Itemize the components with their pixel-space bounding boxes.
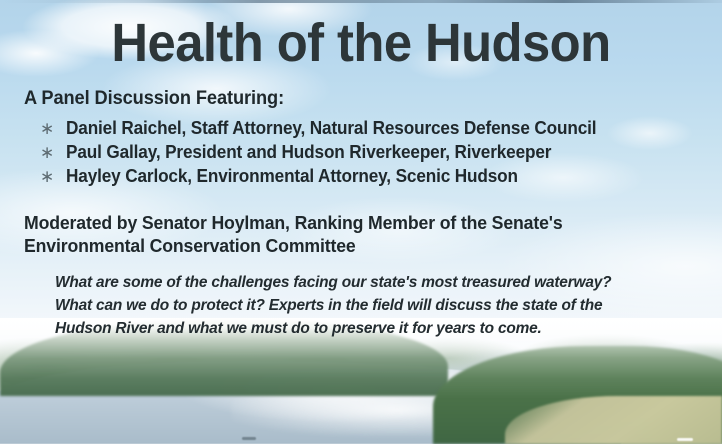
poster: Health of the Hudson A Panel Discussion … bbox=[0, 0, 722, 444]
panelist-list: ∗ Daniel Raichel, Staff Attorney, Natura… bbox=[40, 118, 712, 190]
moderator-line: Moderated by Senator Hoylman, Ranking Me… bbox=[24, 211, 675, 234]
blurb-line: What are some of the challenges facing o… bbox=[55, 271, 685, 294]
blurb-line: Hudson River and what we must do to pres… bbox=[55, 317, 685, 340]
list-item: ∗ Paul Gallay, President and Hudson Rive… bbox=[40, 142, 712, 166]
subtitle: A Panel Discussion Featuring: bbox=[24, 88, 284, 110]
description-blurb: What are some of the challenges facing o… bbox=[55, 271, 708, 340]
moderator-block: Moderated by Senator Hoylman, Ranking Me… bbox=[24, 211, 706, 257]
asterisk-bullet-icon: ∗ bbox=[40, 167, 66, 187]
moderator-line: Environmental Conservation Committee bbox=[24, 234, 675, 257]
poster-content: Health of the Hudson A Panel Discussion … bbox=[0, 0, 722, 444]
blurb-line: What can we do to protect it? Experts in… bbox=[55, 294, 685, 317]
asterisk-bullet-icon: ∗ bbox=[40, 143, 66, 163]
page-title: Health of the Hudson bbox=[22, 13, 701, 73]
list-item: ∗ Hayley Carlock, Environmental Attorney… bbox=[40, 166, 712, 190]
panelist-label: Hayley Carlock, Environmental Attorney, … bbox=[66, 166, 518, 187]
panelist-label: Daniel Raichel, Staff Attorney, Natural … bbox=[66, 118, 596, 139]
asterisk-bullet-icon: ∗ bbox=[40, 119, 66, 139]
panelist-label: Paul Gallay, President and Hudson Riverk… bbox=[66, 142, 551, 163]
list-item: ∗ Daniel Raichel, Staff Attorney, Natura… bbox=[40, 118, 712, 142]
